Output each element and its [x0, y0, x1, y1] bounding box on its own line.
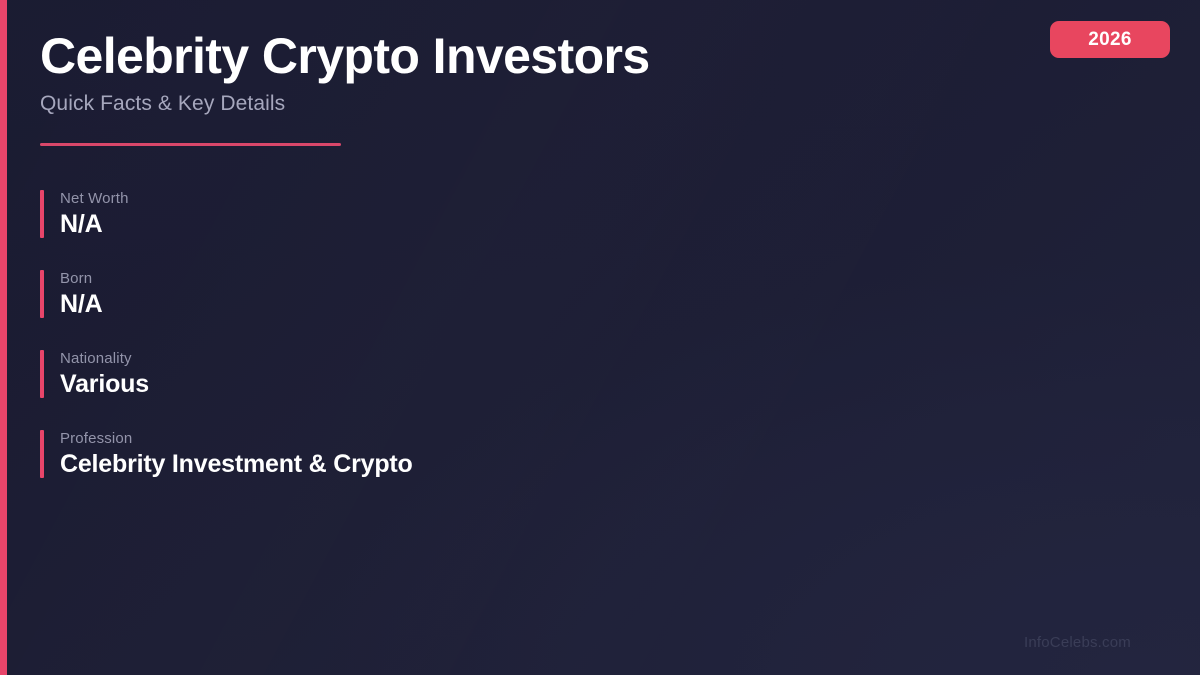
- page-subtitle: Quick Facts & Key Details: [40, 91, 940, 116]
- left-accent-stripe: [0, 0, 7, 675]
- fact-list: Net Worth N/A Born N/A Nationality Vario…: [40, 190, 940, 478]
- fact-value: N/A: [60, 210, 940, 239]
- fact-value: Various: [60, 370, 940, 399]
- fact-accent-bar: [40, 430, 44, 478]
- fact-label: Net Worth: [60, 190, 940, 208]
- fact-value: N/A: [60, 290, 940, 319]
- year-badge[interactable]: 2026: [1050, 21, 1170, 58]
- fact-item-net-worth: Net Worth N/A: [40, 190, 940, 238]
- page-title: Celebrity Crypto Investors: [40, 30, 940, 83]
- fact-label: Nationality: [60, 350, 940, 368]
- fact-accent-bar: [40, 350, 44, 398]
- fact-label: Born: [60, 270, 940, 288]
- title-underline-rule: [40, 143, 341, 146]
- card-header: Celebrity Crypto Investors Quick Facts &…: [40, 30, 940, 116]
- fact-item-born: Born N/A: [40, 270, 940, 318]
- site-watermark: InfoCelebs.com: [1024, 634, 1131, 651]
- fact-accent-bar: [40, 270, 44, 318]
- fact-item-profession: Profession Celebrity Investment & Crypto: [40, 430, 940, 478]
- fact-item-nationality: Nationality Various: [40, 350, 940, 398]
- info-card: 2026 Celebrity Crypto Investors Quick Fa…: [0, 0, 1200, 675]
- fact-value: Celebrity Investment & Crypto: [60, 450, 940, 479]
- fact-label: Profession: [60, 430, 940, 448]
- fact-accent-bar: [40, 190, 44, 238]
